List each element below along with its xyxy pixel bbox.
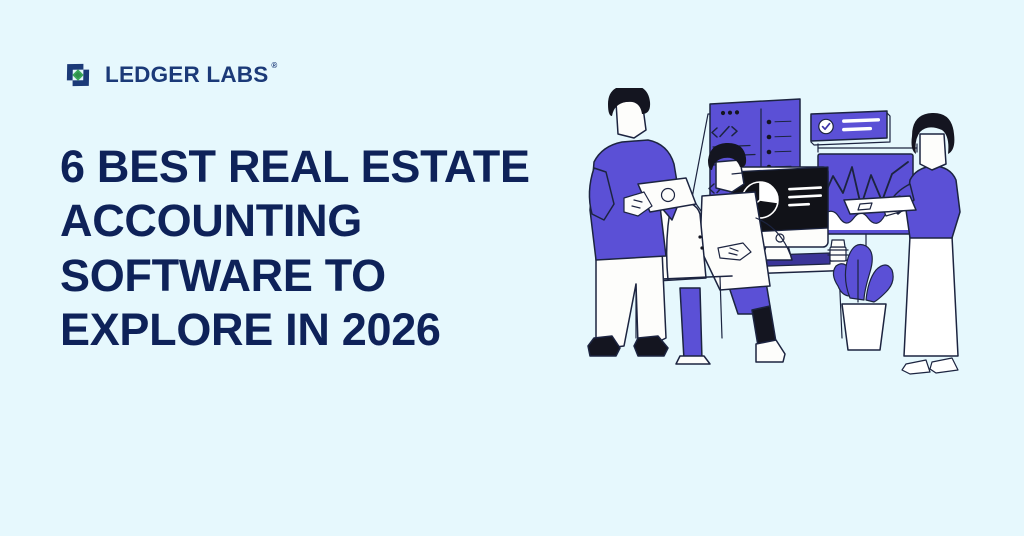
registered-trademark-symbol: ®	[271, 62, 277, 70]
banner-root: LEDGER LABS® 6 BEST REAL ESTATE ACCOUNTI…	[0, 0, 1024, 536]
laptop-tray	[844, 196, 916, 214]
check-circle-icon	[819, 119, 833, 133]
headline-line-3: SOFTWARE TO	[60, 249, 560, 303]
headline-line-2: ACCOUNTING	[60, 194, 560, 248]
notification-card	[811, 111, 890, 145]
headline-line-1: 6 BEST REAL ESTATE	[60, 140, 560, 194]
brand-wordmark: LEDGER LABS®	[105, 64, 268, 87]
desk-cup	[828, 240, 848, 261]
brand-logo[interactable]: LEDGER LABS®	[60, 56, 268, 94]
brand-name-text: LEDGER LABS	[105, 62, 268, 87]
page-title: 6 BEST REAL ESTATE ACCOUNTING SOFTWARE T…	[60, 140, 560, 358]
headline-line-4: EXPLORE IN 2026	[60, 303, 560, 357]
diamond-chevron-logo-icon	[60, 57, 96, 93]
office-analytics-illustration: .ln { fill:none; stroke:#1c2440; stroke-…	[580, 88, 980, 400]
